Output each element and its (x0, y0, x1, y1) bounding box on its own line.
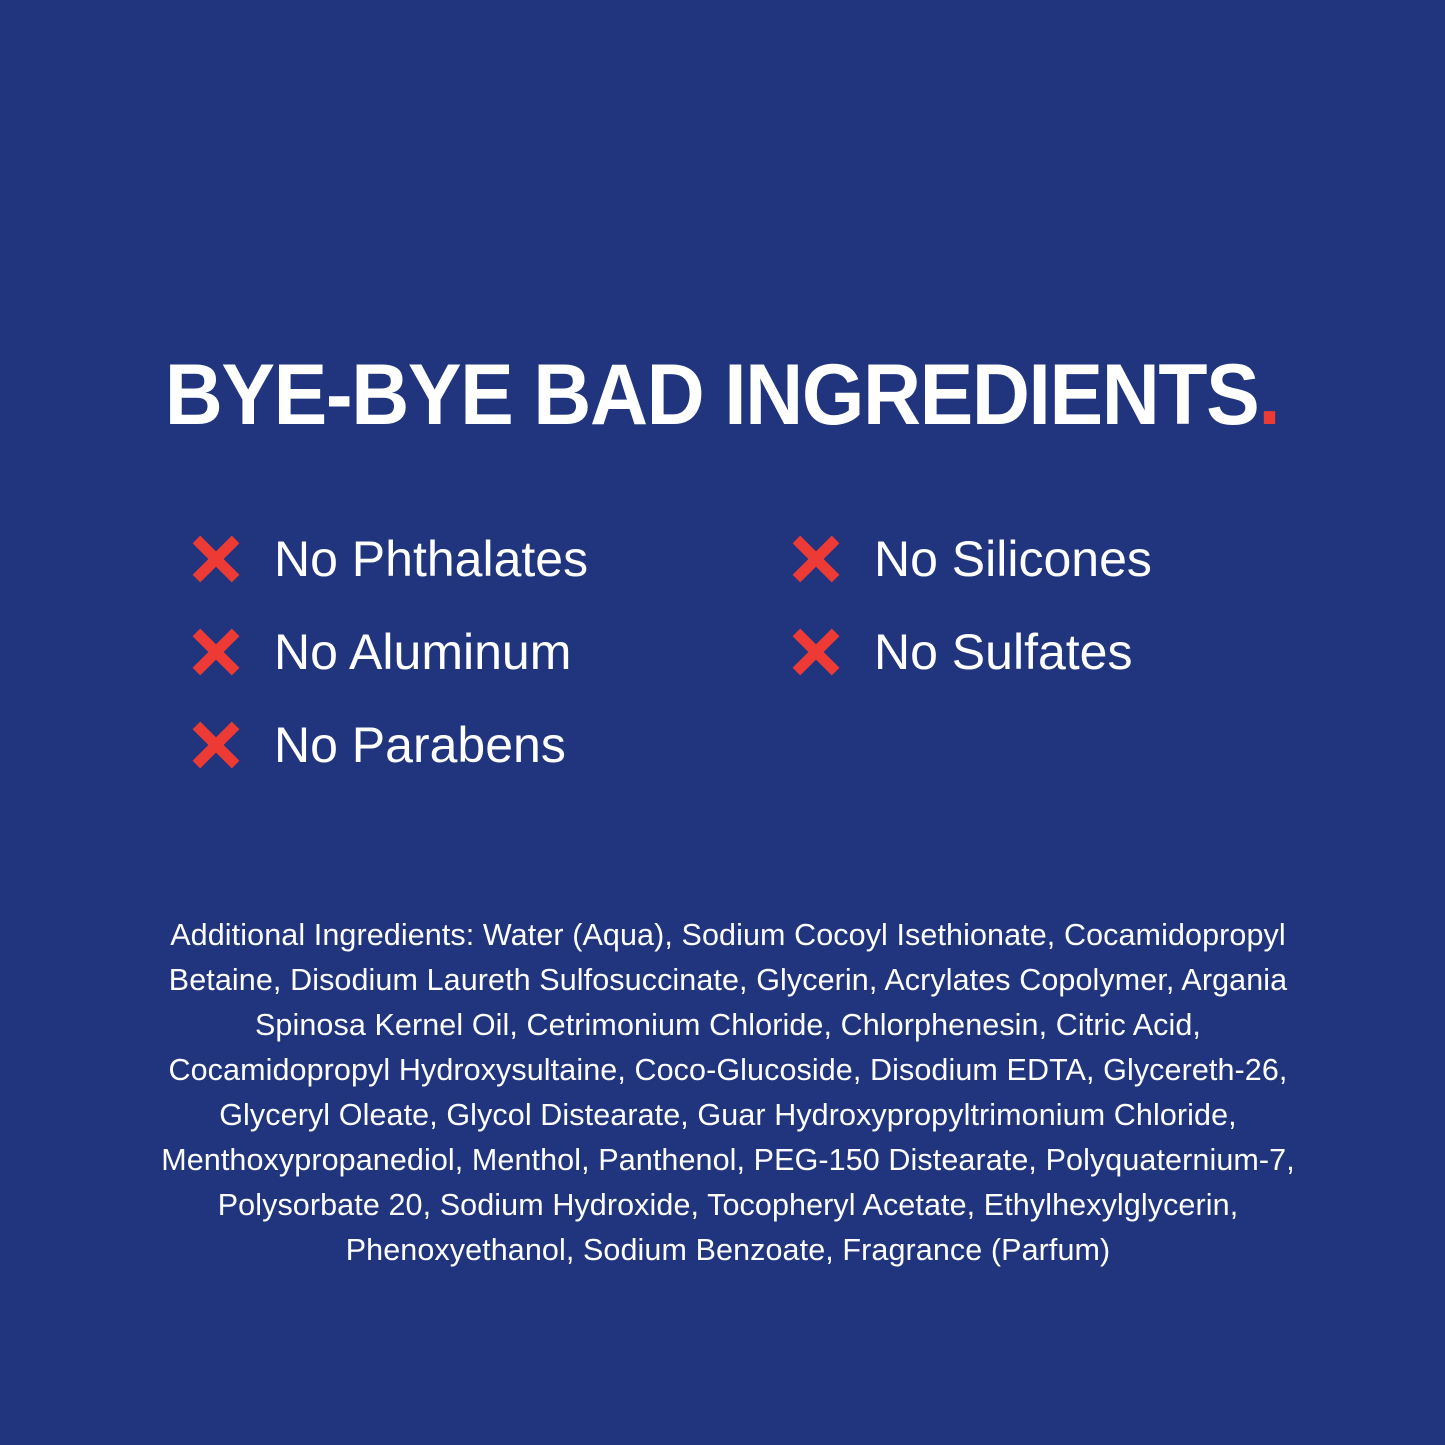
claims-column-left: No Phthalates No Aluminum (190, 512, 790, 791)
red-x-icon (190, 533, 242, 585)
promo-panel: BYE-BYE BAD INGREDIENTS. No Phthalates (0, 0, 1445, 1445)
ingredients-paragraph: Additional Ingredients: Water (Aqua), So… (148, 913, 1308, 1273)
headline-container: BYE-BYE BAD INGREDIENTS. (0, 352, 1445, 438)
claim-label: No Silicones (874, 534, 1152, 584)
claim-label: No Aluminum (274, 627, 571, 677)
claim-label: No Phthalates (274, 534, 588, 584)
claim-item: No Parabens (190, 698, 790, 791)
claims-columns: No Phthalates No Aluminum (190, 512, 1270, 791)
claims-list: No Phthalates No Aluminum (190, 512, 1270, 791)
headline-text: BYE-BYE BAD INGREDIENTS (165, 347, 1259, 443)
red-x-icon (790, 533, 842, 585)
red-x-icon (790, 626, 842, 678)
red-x-icon (190, 626, 242, 678)
claim-item: No Silicones (790, 512, 1270, 605)
red-x-icon (190, 719, 242, 771)
claim-item: No Sulfates (790, 605, 1270, 698)
claim-label: No Sulfates (874, 627, 1132, 677)
headline-period: . (1259, 347, 1280, 443)
claim-label: No Parabens (274, 720, 566, 770)
page-title: BYE-BYE BAD INGREDIENTS. (165, 352, 1280, 438)
claims-column-right: No Silicones No Sulfates (790, 512, 1270, 698)
claim-item: No Aluminum (190, 605, 790, 698)
claim-item: No Phthalates (190, 512, 790, 605)
